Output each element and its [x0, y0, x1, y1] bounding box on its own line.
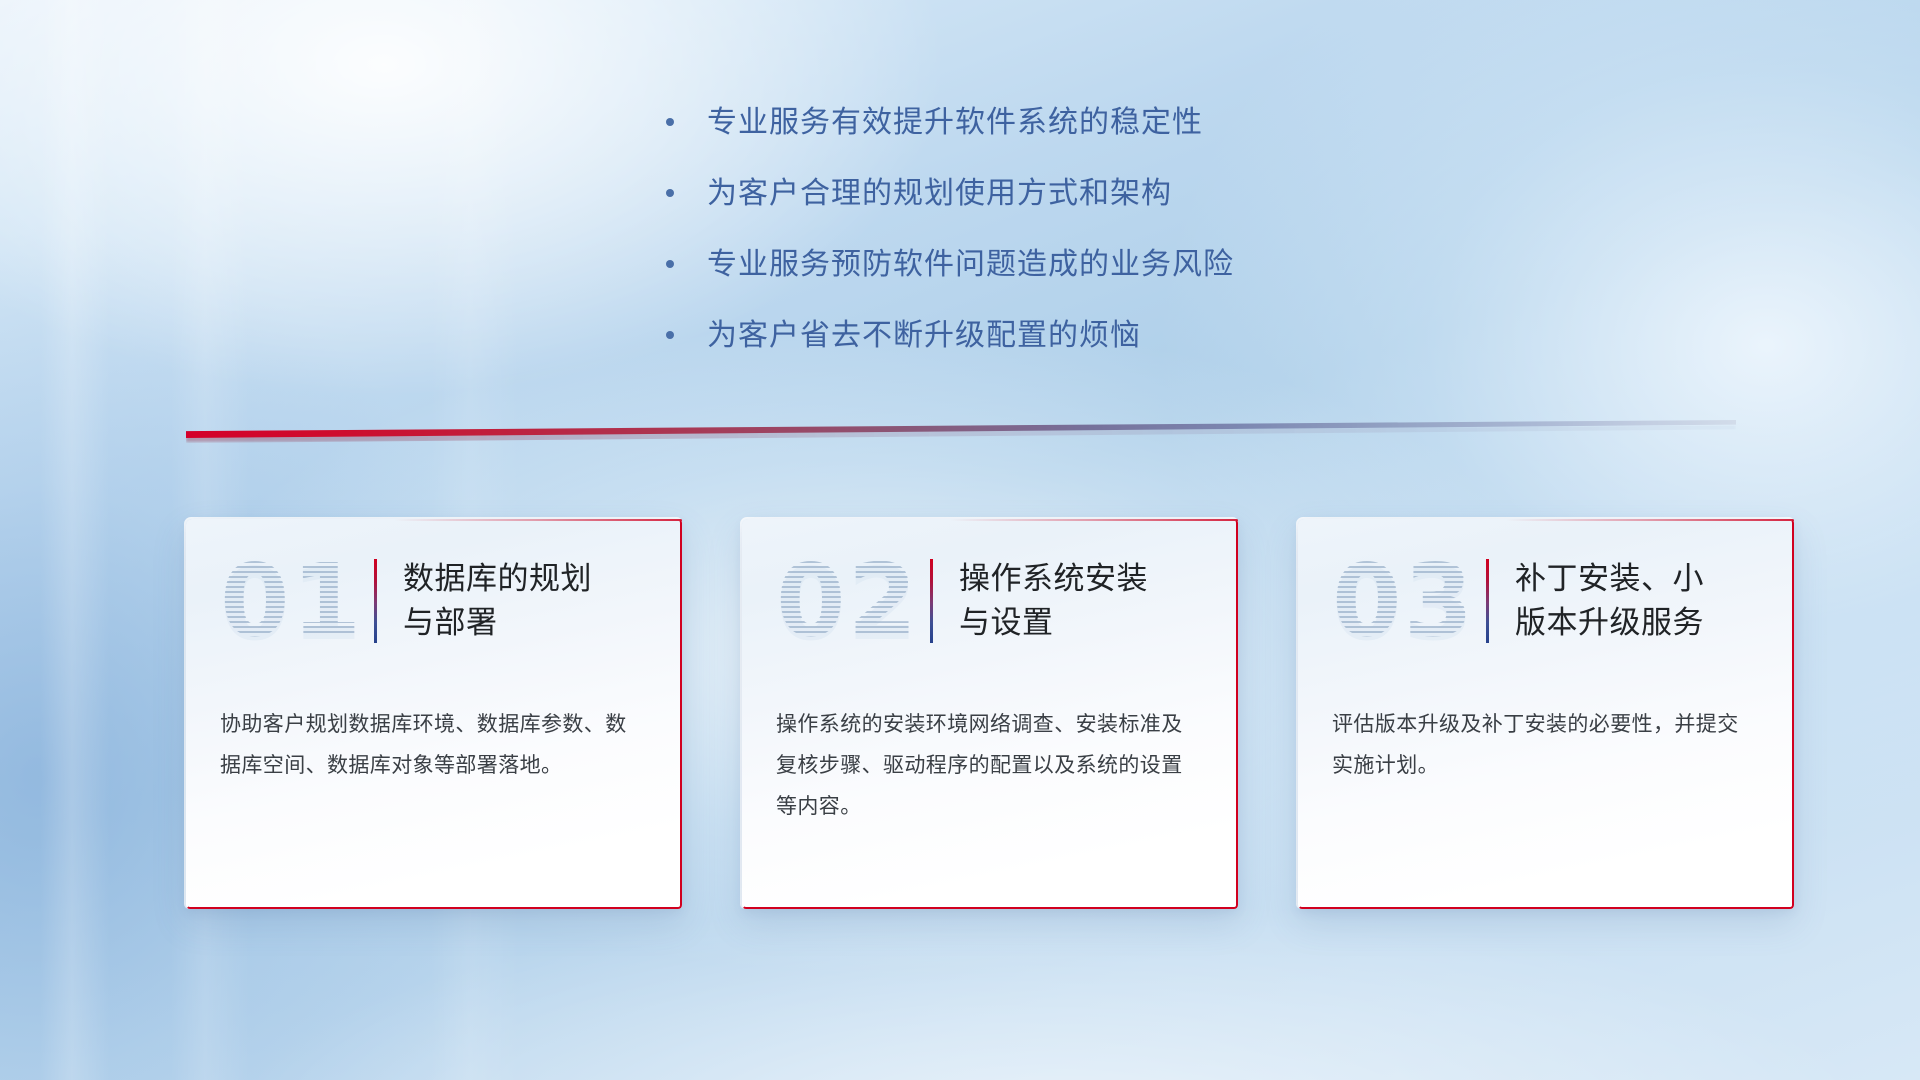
card-number: 02: [776, 551, 926, 651]
card-body-text: 评估版本升级及补丁安装的必要性，并提交实施计划。: [1298, 647, 1794, 787]
card-title-rule: [930, 559, 933, 643]
card-body-text: 协助客户规划数据库环境、数据库参数、数据库空间、数据库对象等部署落地。: [186, 647, 682, 787]
card-title-rule: [1486, 559, 1489, 643]
bullet-text: 专业服务有效提升软件系统的稳定性: [707, 108, 1203, 138]
card-title-rule: [374, 559, 377, 643]
service-card-row: 01 01 数据库的规划 与部署 协助客户规划数据库环境、数据库参数、数据库空间…: [186, 519, 1794, 909]
service-card-03[interactable]: 03 03 补丁安装、小 版本升级服务 评估版本升级及补丁安装的必要性，并提交实…: [1298, 519, 1794, 909]
card-title-line-2: 与设置: [959, 601, 1148, 645]
list-item: 专业服务有效提升软件系统的稳定性: [666, 108, 1566, 138]
service-card-02[interactable]: 02 02 操作系统安装 与设置 操作系统的安装环境网络调查、安装标准及复核步骤…: [742, 519, 1238, 909]
card-number: 03: [1332, 551, 1482, 651]
list-item: 为客户合理的规划使用方式和架构: [666, 179, 1566, 209]
card-title-line-2: 版本升级服务: [1515, 601, 1704, 645]
card-header: 03 03 补丁安装、小 版本升级服务: [1298, 519, 1794, 647]
section-divider: [186, 420, 1736, 444]
bullet-text: 专业服务预防软件问题造成的业务风险: [707, 250, 1234, 280]
service-card-01[interactable]: 01 01 数据库的规划 与部署 协助客户规划数据库环境、数据库参数、数据库空间…: [186, 519, 682, 909]
list-item: 专业服务预防软件问题造成的业务风险: [666, 250, 1566, 280]
card-title: 补丁安装、小 版本升级服务: [1515, 557, 1704, 645]
bullet-text: 为客户合理的规划使用方式和架构: [707, 179, 1172, 209]
slide-canvas: 专业服务有效提升软件系统的稳定性 为客户合理的规划使用方式和架构 专业服务预防软…: [0, 0, 1920, 1080]
benefits-bullet-list: 专业服务有效提升软件系统的稳定性 为客户合理的规划使用方式和架构 专业服务预防软…: [666, 108, 1566, 392]
card-body-text: 操作系统的安装环境网络调查、安装标准及复核步骤、驱动程序的配置以及系统的设置等内…: [742, 647, 1238, 828]
card-title-line-1: 操作系统安装: [959, 557, 1148, 601]
card-title-line-1: 补丁安装、小: [1515, 557, 1704, 601]
card-title: 数据库的规划 与部署: [403, 557, 592, 645]
list-item: 为客户省去不断升级配置的烦恼: [666, 321, 1566, 351]
bullet-dot-icon: [666, 331, 674, 339]
card-title-line-1: 数据库的规划: [403, 557, 592, 601]
bullet-text: 为客户省去不断升级配置的烦恼: [707, 321, 1141, 351]
card-title-line-2: 与部署: [403, 601, 592, 645]
bullet-dot-icon: [666, 260, 674, 268]
card-number: 01: [220, 551, 370, 651]
bullet-dot-icon: [666, 189, 674, 197]
bullet-dot-icon: [666, 118, 674, 126]
card-title: 操作系统安装 与设置: [959, 557, 1148, 645]
card-header: 02 02 操作系统安装 与设置: [742, 519, 1238, 647]
card-header: 01 01 数据库的规划 与部署: [186, 519, 682, 647]
